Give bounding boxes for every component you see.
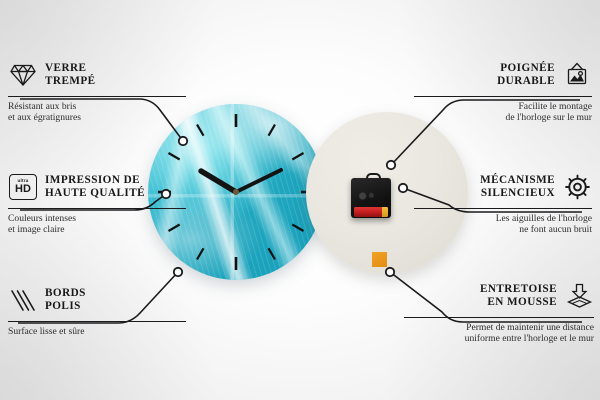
- gear-icon: [562, 172, 592, 202]
- diamond-icon: [8, 60, 38, 90]
- feature-title: POIGNÉE DURABLE: [497, 62, 555, 88]
- ultra-hd-icon: ultra HD: [8, 172, 38, 202]
- feature-header: BORDS POLIS: [8, 283, 186, 317]
- foam-spacer-icon: [564, 281, 594, 311]
- hanging-frame-icon: [562, 60, 592, 90]
- feature-header: MÉCANISME SILENCIEUX: [414, 170, 592, 204]
- feature-description: Permet de maintenir une distance uniform…: [404, 322, 594, 345]
- feature-title: BORDS POLIS: [45, 287, 86, 313]
- feature-divider: [8, 321, 186, 322]
- feature-impression-hd: ultra HD IMPRESSION DE HAUTE QUALITÉ Cou…: [8, 170, 186, 236]
- feature-description: Surface lisse et sûre: [8, 326, 186, 337]
- feature-divider: [404, 317, 594, 318]
- ultra-hd-icon-main-label: HD: [15, 184, 31, 195]
- polished-edges-icon: [8, 285, 38, 315]
- feature-description: Couleurs intenses et image claire: [8, 213, 186, 236]
- feature-title: ENTRETOISE EN MOUSSE: [480, 283, 557, 309]
- feature-divider: [8, 96, 186, 97]
- connector-dot-mecanisme: [399, 184, 407, 192]
- feature-title: IMPRESSION DE HAUTE QUALITÉ: [45, 174, 145, 200]
- feature-entretoise-en-mousse: ENTRETOISE EN MOUSSE Permet de maintenir…: [404, 279, 594, 345]
- feature-divider: [414, 208, 592, 209]
- feature-header: ultra HD IMPRESSION DE HAUTE QUALITÉ: [8, 170, 186, 204]
- feature-header: ENTRETOISE EN MOUSSE: [404, 279, 594, 313]
- connector-dot-poignee-durable: [387, 161, 395, 169]
- feature-title: MÉCANISME SILENCIEUX: [480, 174, 555, 200]
- connector-dot-verre-trempe: [179, 137, 187, 145]
- feature-description: Les aiguilles de l'horloge ne font aucun…: [414, 213, 592, 236]
- feature-header: VERRE TREMPÉ: [8, 58, 186, 92]
- infographic-canvas: VERRE TREMPÉ Résistant aux bris et aux é…: [0, 0, 600, 400]
- feature-verre-trempe: VERRE TREMPÉ Résistant aux bris et aux é…: [8, 58, 186, 124]
- feature-divider: [8, 208, 186, 209]
- feature-divider: [414, 96, 592, 97]
- feature-title: VERRE TREMPÉ: [45, 62, 96, 88]
- feature-bords-polis: BORDS POLIS Surface lisse et sûre: [8, 283, 186, 337]
- feature-description: Facilite le montage de l'horloge sur le …: [414, 101, 592, 124]
- feature-header: POIGNÉE DURABLE: [414, 58, 592, 92]
- feature-description: Résistant aux bris et aux égratignures: [8, 101, 186, 124]
- feature-poignee-durable: POIGNÉE DURABLE Facilite le montage de l…: [414, 58, 592, 124]
- feature-mecanisme-silencieux: MÉCANISME SILENCIEUX Les aiguilles de l'…: [414, 170, 592, 236]
- connector-dot-bords-polis: [174, 268, 182, 276]
- connector-dot-entretoise: [386, 268, 394, 276]
